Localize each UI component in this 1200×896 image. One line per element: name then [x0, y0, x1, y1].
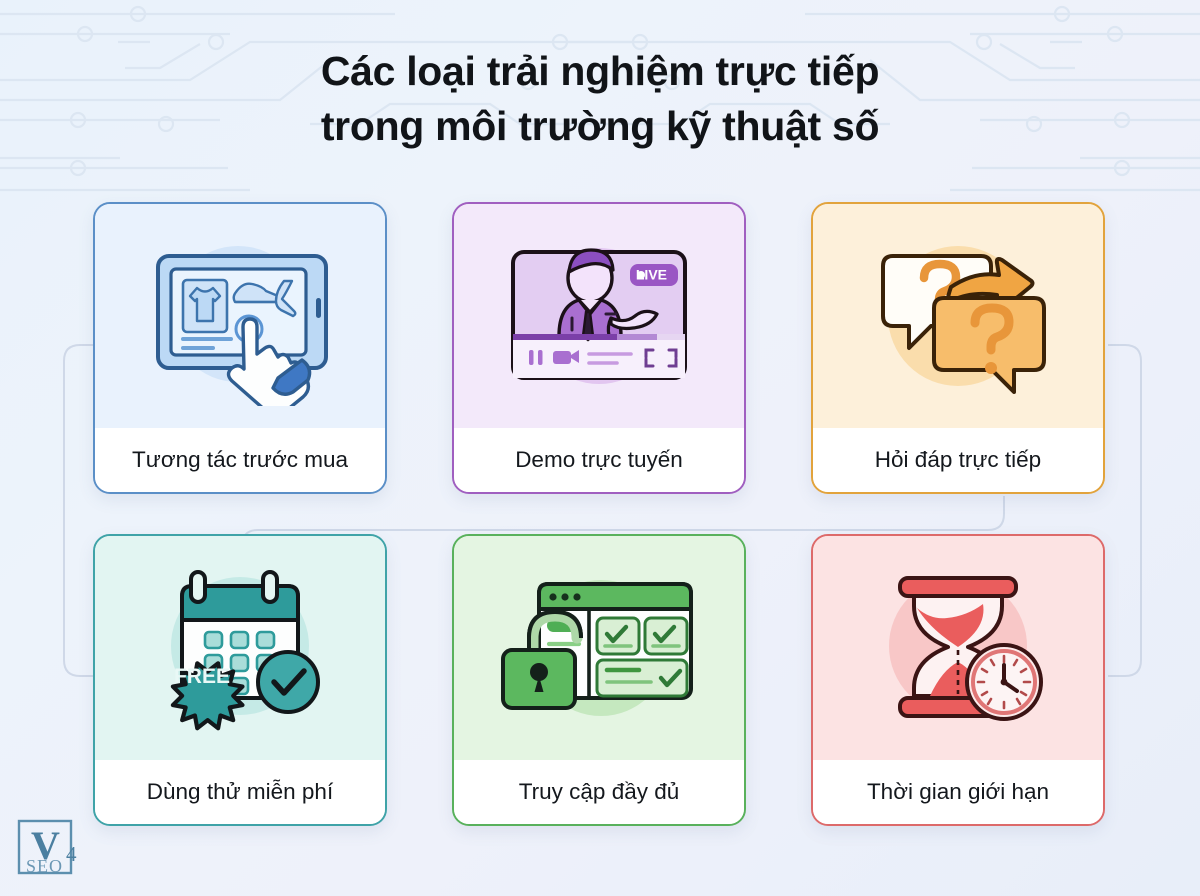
hourglass-clock-icon: [848, 558, 1068, 738]
card-artwork: [95, 204, 385, 428]
card-label: Demo trực tuyến: [454, 428, 744, 492]
card-artwork: FREE: [95, 536, 385, 760]
question-speech-bubbles-icon: [848, 224, 1068, 409]
tablet-shopping-touch-icon: [130, 226, 350, 406]
card-free-trial[interactable]: FREE Dùng thử miễn phí: [93, 534, 387, 826]
card-interaction-before-purchase[interactable]: Tương tác trước mua: [93, 202, 387, 494]
card-artwork: [454, 536, 744, 760]
logo-superscript-4: 4: [66, 842, 77, 866]
page-title: Các loại trải nghiệm trực tiếp trong môi…: [0, 44, 1200, 154]
card-artwork: [813, 536, 1103, 760]
unlocked-padlock-browser-icon: [489, 558, 709, 738]
logo-wordmark: SEO: [26, 856, 63, 876]
live-video-player-icon: LIVE: [489, 226, 709, 406]
free-badge-text: FREE: [174, 665, 230, 688]
live-badge-text: LIVE: [636, 267, 667, 283]
brand-logo[interactable]: V 4 SEO: [14, 817, 92, 884]
card-label: Truy cập đầy đủ: [454, 760, 744, 824]
card-online-demo[interactable]: LIVE Demo trực tuyến: [452, 202, 746, 494]
card-label: Dùng thử miễn phí: [95, 760, 385, 824]
title-line-1: Các loại trải nghiệm trực tiếp: [0, 44, 1200, 99]
card-artwork: [813, 204, 1103, 428]
card-label: Thời gian giới hạn: [813, 760, 1103, 824]
card-label: Hỏi đáp trực tiếp: [813, 428, 1103, 492]
card-limited-time[interactable]: Thời gian giới hạn: [811, 534, 1105, 826]
card-full-access[interactable]: Truy cập đầy đủ: [452, 534, 746, 826]
card-artwork: LIVE: [454, 204, 744, 428]
experience-card-grid: Tương tác trước mua: [93, 202, 1111, 826]
title-line-2: trong môi trường kỹ thuật số: [0, 99, 1200, 154]
calendar-free-check-icon: FREE: [130, 558, 350, 738]
v4-seo-logo-icon: V 4 SEO: [14, 817, 92, 879]
card-label: Tương tác trước mua: [95, 428, 385, 492]
card-live-qa[interactable]: Hỏi đáp trực tiếp: [811, 202, 1105, 494]
